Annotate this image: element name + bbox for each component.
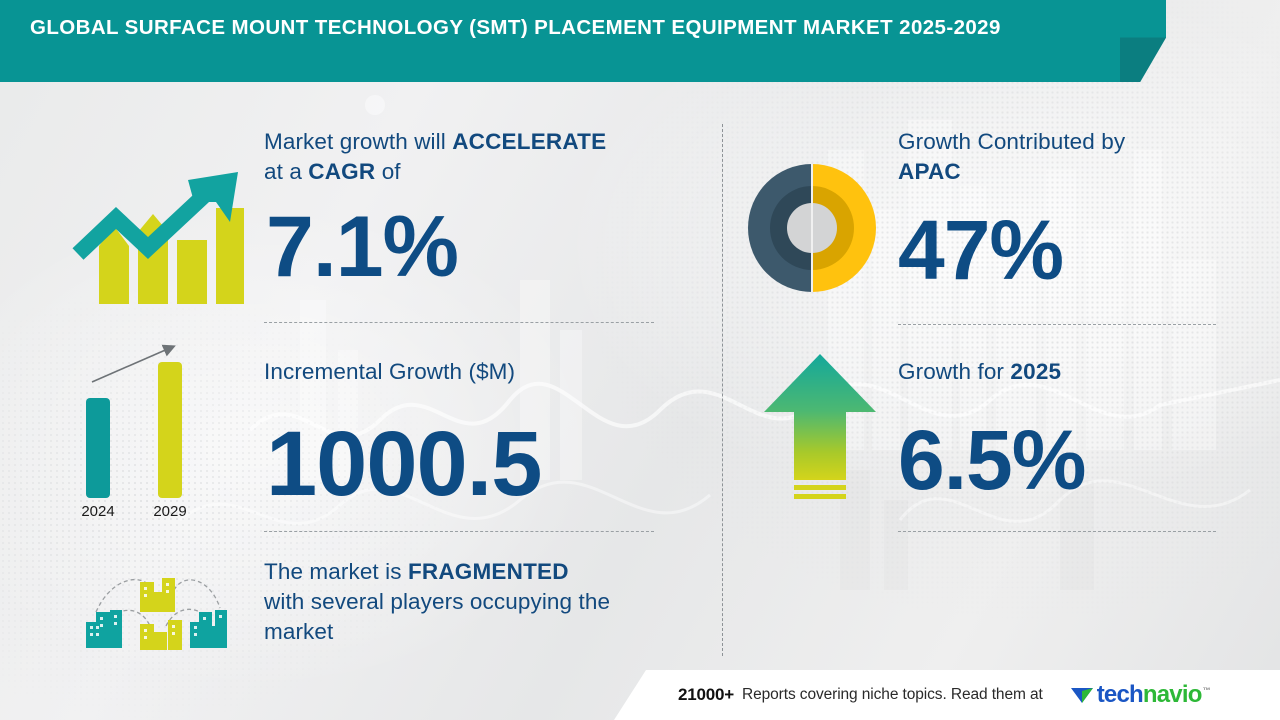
growth-2025-label: Growth for: [898, 359, 1010, 384]
apac-caption: Growth Contributed by APAC: [898, 127, 1228, 187]
apac-value: 47%: [898, 208, 1063, 292]
technavio-logo[interactable]: technavio™: [1069, 683, 1210, 707]
fragmentation-keyword: FRAGMENTED: [408, 559, 569, 584]
cagr-text-3: of: [375, 159, 400, 184]
cagr-label: CAGR: [308, 159, 375, 184]
fragmentation-text-2: with several players occupying the marke…: [264, 589, 610, 644]
apac-label-text: Growth Contributed by: [898, 129, 1125, 154]
upward-arrow-icon: [758, 352, 882, 504]
header-fold-corner: [1120, 0, 1166, 82]
donut-chart-icon: [744, 160, 880, 296]
fragmentation-caption: The market is FRAGMENTED with several pl…: [264, 557, 676, 647]
growth-2025-value: 6.5%: [898, 418, 1085, 502]
separator-cagr: [264, 322, 654, 323]
cagr-text-1: Market growth will: [264, 129, 452, 154]
city-buildings-network-icon: [70, 560, 242, 660]
footer-tagline: Reports covering niche topics. Read them…: [742, 686, 1043, 704]
page-title: GLOBAL SURFACE MOUNT TECHNOLOGY (SMT) PL…: [30, 13, 1050, 43]
cagr-caption: Market growth will ACCELERATE at a CAGR …: [264, 127, 664, 187]
infographic-root: GLOBAL SURFACE MOUNT TECHNOLOGY (SMT) PL…: [0, 0, 1280, 720]
fragmentation-text-1: The market is: [264, 559, 408, 584]
footer-content: 21000+ Reports covering niche topics. Re…: [678, 670, 1210, 720]
logo-text-tech: tech: [1097, 681, 1143, 708]
report-count-badge: 21000+: [678, 685, 734, 705]
logo-text-navio: navio: [1143, 681, 1202, 708]
incremental-growth-value: 1000.5: [266, 418, 541, 510]
apac-region: APAC: [898, 159, 961, 184]
separator-growth-2025: [898, 531, 1216, 532]
cagr-accelerate: ACCELERATE: [452, 129, 606, 154]
growth-2025-caption: Growth for 2025: [898, 357, 1061, 387]
incremental-growth-label: Incremental Growth ($M): [264, 357, 515, 387]
technavio-mark-icon: [1069, 683, 1095, 707]
growth-2025-year: 2025: [1010, 359, 1061, 384]
logo-trademark: ™: [1203, 686, 1210, 695]
column-divider: [722, 124, 723, 656]
growth-arrow-chart-icon: [66, 148, 246, 308]
separator-incremental: [264, 531, 654, 532]
separator-apac: [898, 324, 1216, 325]
cagr-text-2: at a: [264, 159, 308, 184]
page-header: GLOBAL SURFACE MOUNT TECHNOLOGY (SMT) PL…: [0, 0, 1280, 82]
page-footer: 21000+ Reports covering niche topics. Re…: [0, 670, 1280, 720]
cagr-value: 7.1%: [266, 204, 458, 290]
